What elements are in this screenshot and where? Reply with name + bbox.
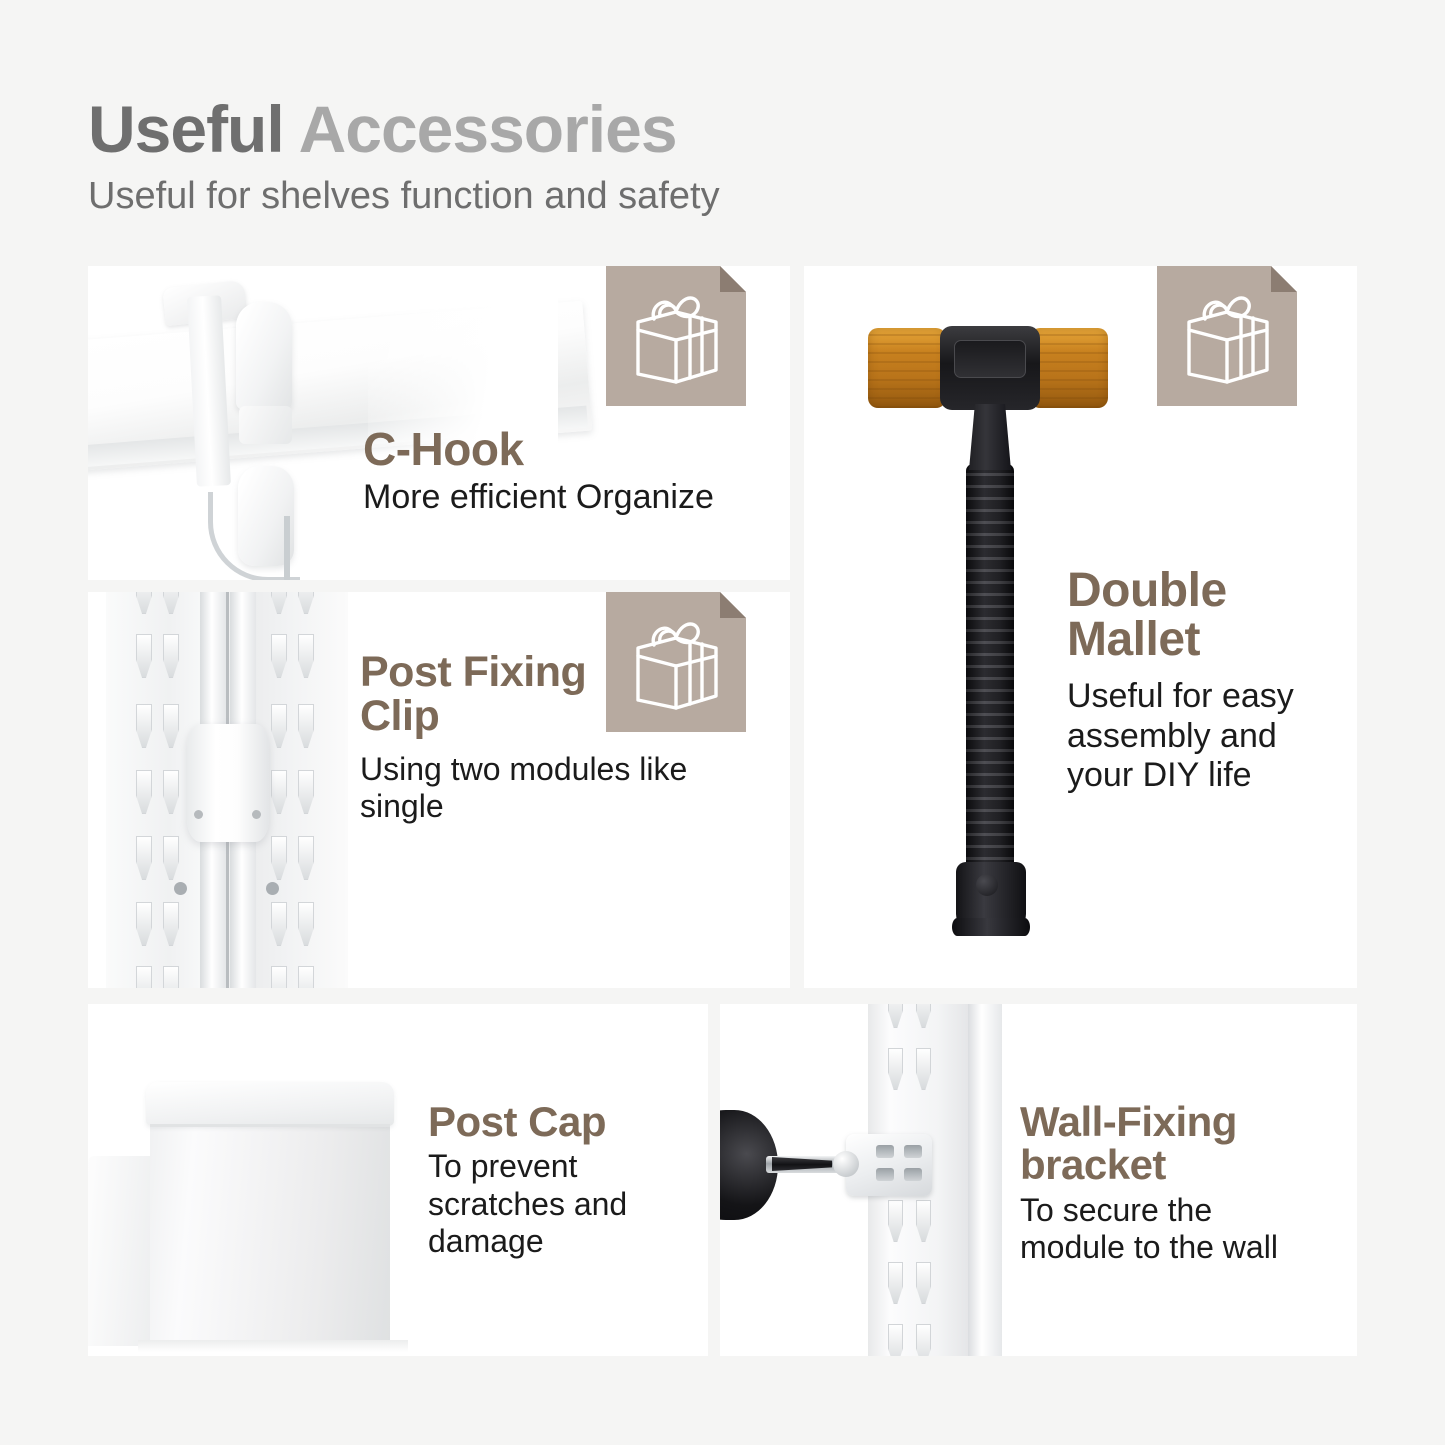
card-title-double-mallet: Double Mallet <box>1067 566 1297 665</box>
bracket-slot <box>904 1145 922 1158</box>
post-rail <box>968 1004 1002 1356</box>
photo-wall-fixing-bracket <box>720 1004 1020 1356</box>
card-description-post-fixing-clip: Using two modules like single <box>360 751 720 826</box>
post-hole <box>266 882 279 895</box>
mallet-face-left <box>868 328 946 408</box>
bracket-nut <box>833 1151 859 1177</box>
post-cap-seam <box>150 1124 390 1127</box>
post-slot <box>916 1324 931 1356</box>
post-slot <box>163 966 179 988</box>
c-hook-wire-stem <box>284 516 290 580</box>
card-title-wall-fixing-bracket: Wall-Fixing bracket <box>1020 1100 1290 1187</box>
card-description-post-cap: To prevent scratches and damage <box>428 1148 648 1260</box>
card-wall-fixing-bracket: Wall-Fixing bracket To secure the module… <box>720 1004 1357 1356</box>
post-slot <box>271 966 287 988</box>
post-slot <box>298 966 314 988</box>
mallet-neck <box>969 404 1011 470</box>
header-block: Useful Accessories Useful for shelves fu… <box>88 96 720 218</box>
post-body <box>150 1100 390 1346</box>
mallet-head-plate <box>954 340 1026 378</box>
card-post-cap: Post Cap To prevent scratches and damage <box>88 1004 708 1356</box>
post-hole <box>174 882 187 895</box>
post-cap-part <box>146 1082 394 1126</box>
mallet-butt-cap <box>952 918 1030 936</box>
bracket-slot <box>904 1168 922 1181</box>
infographic-canvas: Useful Accessories Useful for shelves fu… <box>0 0 1445 1445</box>
text-block-double-mallet: Double Mallet Useful for easy assembly a… <box>1067 566 1307 796</box>
page-title-part1: Useful <box>88 92 284 166</box>
post-fixing-clip-part <box>187 724 269 842</box>
text-block-post-fixing-clip: Post Fixing Clip Using two modules like … <box>360 650 720 825</box>
text-block-c-hook: C-Hook More efficient Organize <box>363 426 714 518</box>
card-description-wall-fixing-bracket: To secure the module to the wall <box>1020 1192 1320 1267</box>
card-description-c-hook: More efficient Organize <box>363 478 714 518</box>
post-slot <box>136 966 152 988</box>
card-c-hook: C-Hook More efficient Organize <box>88 266 790 580</box>
gift-box-icon <box>1175 286 1279 386</box>
photo-shadow <box>138 1340 408 1352</box>
card-post-fixing-clip: Post Fixing Clip Using two modules like … <box>88 592 790 988</box>
page-title: Useful Accessories <box>88 96 720 162</box>
bracket-slot <box>876 1168 894 1181</box>
gift-badge-double-mallet <box>1157 266 1297 406</box>
card-title-post-cap: Post Cap <box>428 1100 648 1143</box>
mallet-grip <box>966 464 1014 884</box>
mallet-butt-dot <box>976 874 998 896</box>
c-hook-upper-knob <box>236 302 292 410</box>
page-title-part2: Accessories <box>299 92 677 166</box>
gift-badge-c-hook <box>606 266 746 406</box>
gift-box-icon <box>624 286 728 386</box>
photo-post-cap <box>88 1004 418 1356</box>
text-block-post-cap: Post Cap To prevent scratches and damage <box>428 1100 648 1261</box>
clip-screw-hole <box>194 810 203 819</box>
text-block-wall-fixing-bracket: Wall-Fixing bracket To secure the module… <box>1020 1100 1320 1266</box>
mallet-face-right <box>1030 328 1108 408</box>
card-title-c-hook: C-Hook <box>363 426 714 473</box>
bracket-slot <box>876 1145 894 1158</box>
post-slot <box>888 1324 903 1356</box>
card-double-mallet: Double Mallet Useful for easy assembly a… <box>804 266 1357 988</box>
c-hook-mid-knob <box>239 406 292 444</box>
page-subtitle: Useful for shelves function and safety <box>88 176 720 218</box>
card-title-post-fixing-clip: Post Fixing Clip <box>360 650 610 739</box>
card-description-double-mallet: Useful for easy assembly and your DIY li… <box>1067 677 1307 796</box>
clip-screw-hole <box>252 810 261 819</box>
photo-post-fixing-clip <box>88 592 368 988</box>
